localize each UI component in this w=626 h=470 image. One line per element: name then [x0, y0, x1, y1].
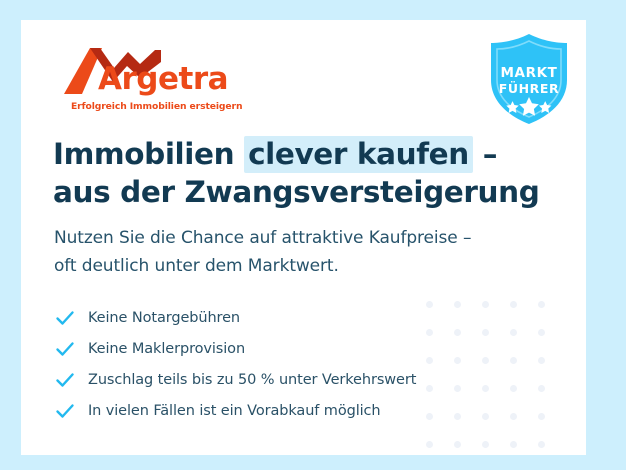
logo-wordmark: Argetra [98, 64, 228, 95]
subheadline-line-2: oft deutlich unter dem Marktwert. [54, 253, 524, 281]
check-icon [54, 338, 76, 360]
promo-card: Argetra Erfolgreich Immobilien ersteiger… [0, 0, 626, 470]
dot [426, 441, 433, 448]
list-item-label: Zuschlag teils bis zu 50 % unter Verkehr… [88, 372, 416, 388]
dot [538, 385, 545, 392]
subheadline-line-1: Nutzen Sie die Chance auf attraktive Kau… [54, 225, 524, 253]
headline-post: – [473, 137, 497, 171]
card-canvas: Argetra Erfolgreich Immobilien ersteiger… [21, 20, 586, 455]
badge-line-2: FÜHRER [499, 81, 560, 96]
headline-pre: Immobilien [53, 137, 244, 171]
check-icon [54, 400, 76, 422]
argetra-logo[interactable]: Argetra Erfolgreich Immobilien ersteiger… [60, 44, 260, 120]
dot [482, 441, 489, 448]
headline-line-2: aus der Zwangsversteigerung [53, 174, 553, 212]
dot [454, 441, 461, 448]
list-item: Zuschlag teils bis zu 50 % unter Verkehr… [54, 364, 524, 395]
dot [538, 413, 545, 420]
logo-tagline: Erfolgreich Immobilien ersteigern [71, 101, 242, 112]
check-icon [54, 307, 76, 329]
market-leader-badge: MARKT FÜHRER [485, 32, 573, 126]
headline-line-1: Immobilien clever kaufen – [53, 136, 553, 174]
list-item: In vielen Fällen ist ein Vorabkauf mögli… [54, 395, 524, 426]
dot-row [426, 441, 586, 448]
subheadline: Nutzen Sie die Chance auf attraktive Kau… [54, 225, 524, 280]
shield-badge-icon: MARKT FÜHRER [485, 32, 573, 126]
list-item-label: Keine Maklerprovision [88, 341, 245, 357]
page-title: Immobilien clever kaufen – aus der Zwang… [53, 136, 553, 212]
benefits-list: Keine NotargebührenKeine Maklerprovision… [54, 302, 524, 426]
dot [538, 329, 545, 336]
badge-line-1: MARKT [501, 65, 558, 81]
list-item-label: In vielen Fällen ist ein Vorabkauf mögli… [88, 403, 381, 419]
dot [510, 441, 517, 448]
list-item: Keine Maklerprovision [54, 333, 524, 364]
list-item-label: Keine Notargebühren [88, 310, 240, 326]
dot [538, 301, 545, 308]
check-icon [54, 369, 76, 391]
headline-highlight: clever kaufen [244, 136, 473, 173]
list-item: Keine Notargebühren [54, 302, 524, 333]
dot [538, 357, 545, 364]
dot [538, 441, 545, 448]
